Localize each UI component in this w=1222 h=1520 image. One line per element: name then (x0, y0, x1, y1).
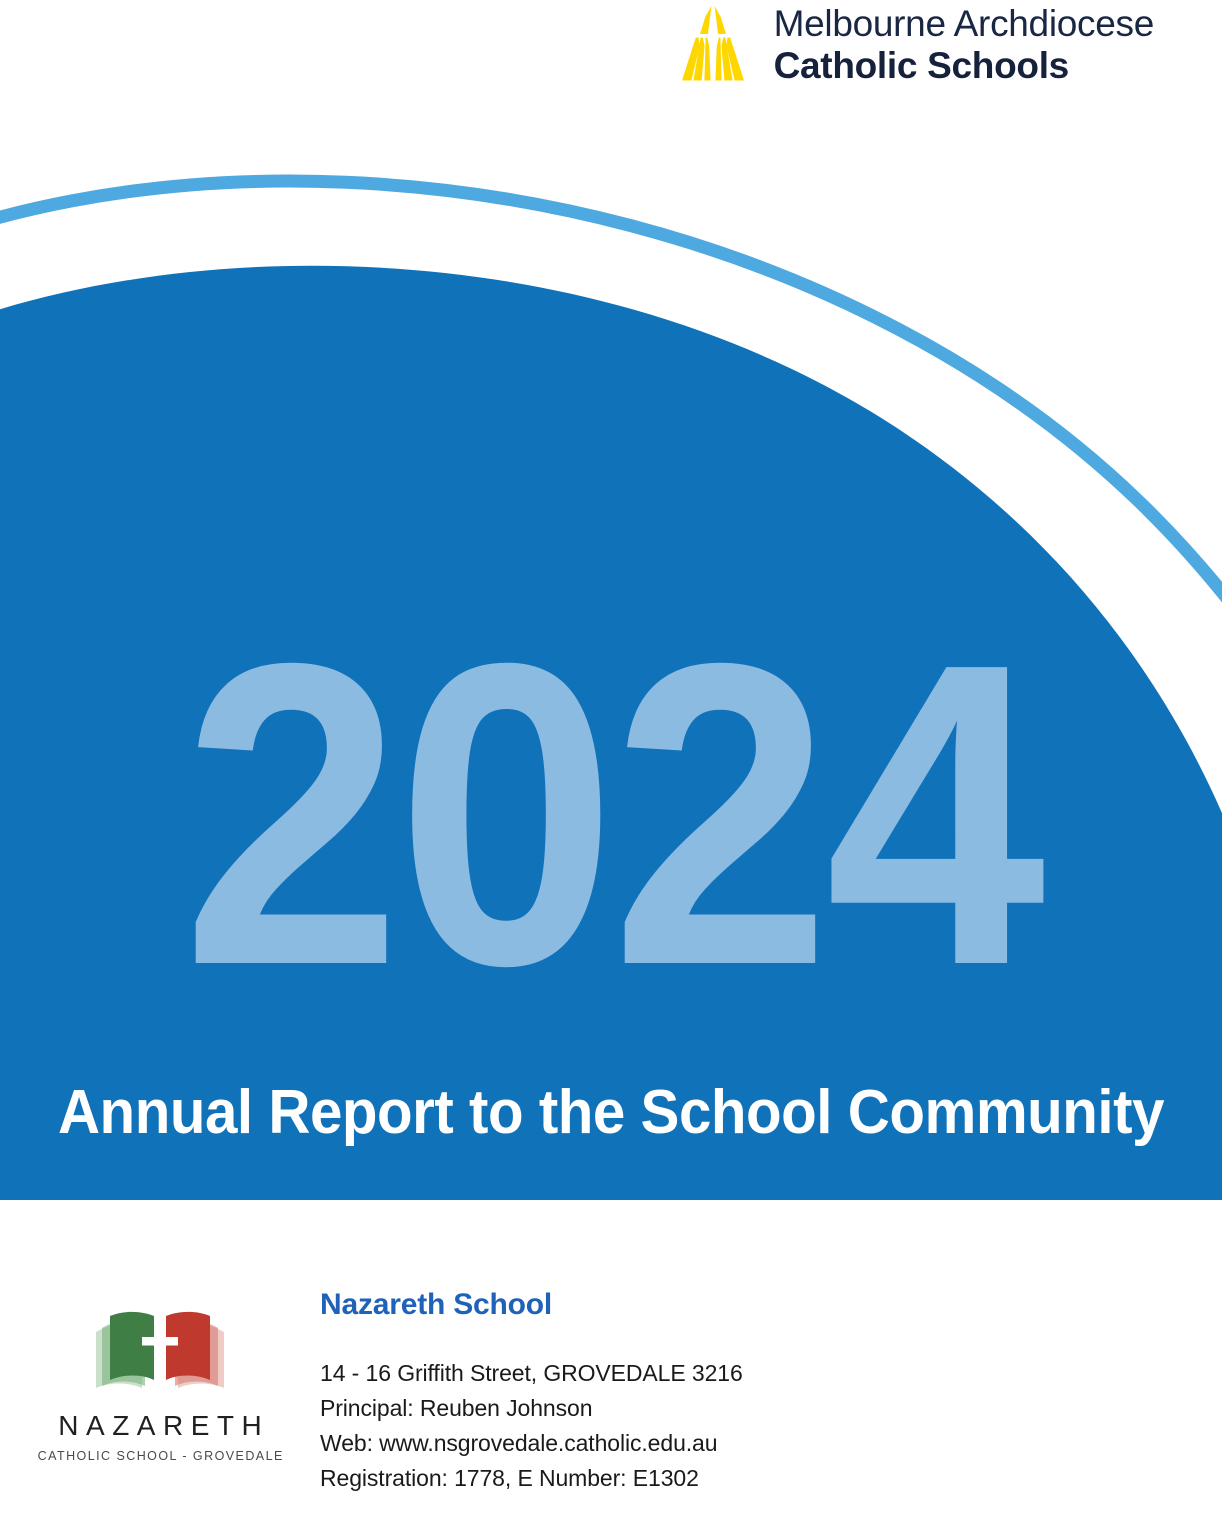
open-book-cross-icon (90, 1302, 230, 1398)
hero-banner: 2024 Annual Report to the School Communi… (0, 0, 1222, 1200)
report-subtitle: Annual Report to the School Community (37, 1077, 1186, 1149)
macs-wordmark: Melbourne Archdiocese Catholic Schools (774, 5, 1154, 84)
school-registration: Registration: 1778, E Number: E1302 (320, 1461, 1222, 1496)
report-cover-page: Melbourne Archdiocese Catholic Schools 2… (0, 0, 1222, 1520)
macs-title-line2: Catholic Schools (774, 47, 1154, 84)
school-principal: Principal: Reuben Johnson (320, 1391, 1222, 1426)
school-logo-name: NAZARETH (51, 1410, 269, 1442)
macs-masthead: Melbourne Archdiocese Catholic Schools (674, 4, 1154, 84)
school-name: Nazareth School (320, 1288, 1222, 1322)
macs-title-line1: Melbourne Archdiocese (774, 5, 1154, 42)
school-logo-subtitle: CATHOLIC SCHOOL - GROVEDALE (36, 1449, 284, 1463)
school-logo: NAZARETH CATHOLIC SCHOOL - GROVEDALE (0, 1240, 320, 1463)
school-info-block: NAZARETH CATHOLIC SCHOOL - GROVEDALE Naz… (0, 1240, 1222, 1496)
macs-rays-icon (674, 4, 752, 84)
school-website: Web: www.nsgrovedale.catholic.edu.au (320, 1426, 1222, 1461)
school-details: Nazareth School 14 - 16 Griffith Street,… (320, 1240, 1222, 1496)
report-year: 2024 (49, 600, 1173, 1030)
school-address: 14 - 16 Griffith Street, GROVEDALE 3216 (320, 1356, 1222, 1391)
